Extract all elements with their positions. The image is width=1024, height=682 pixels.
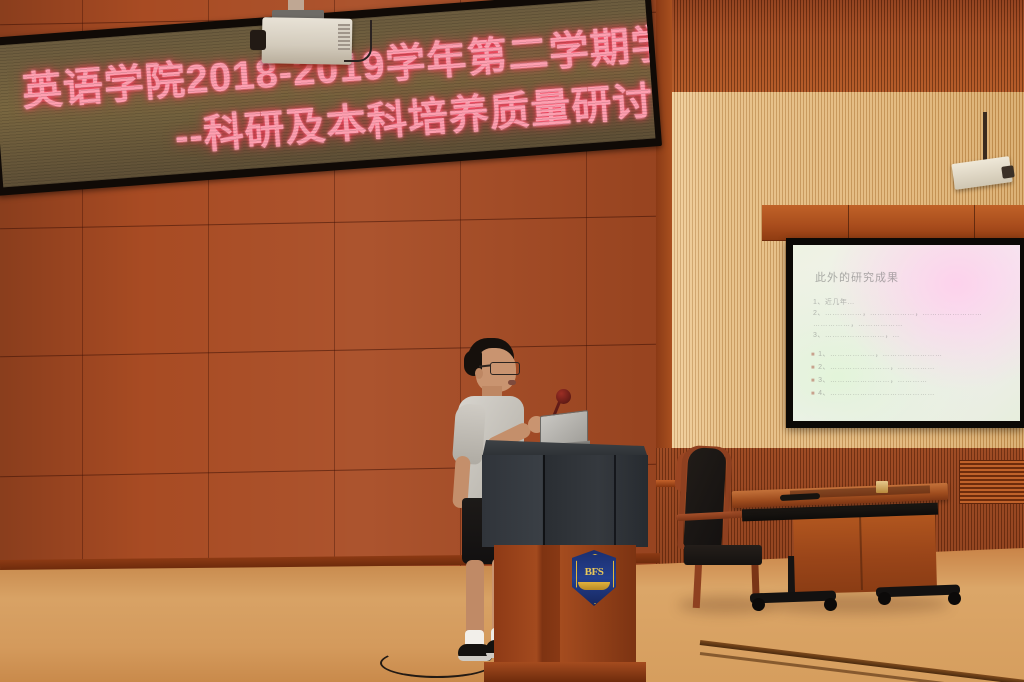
podium-edge: [614, 455, 616, 547]
projection-screen-frame: 此外的研究成果 1、近几年… 2、……………，………………，…………………… ……: [786, 238, 1024, 428]
slide-title: 此外的研究成果: [815, 269, 899, 285]
wall-seam: [0, 216, 656, 230]
projector-right-lens-icon: [1001, 165, 1015, 179]
mouth: [508, 380, 516, 385]
caster-wheel-icon: [948, 592, 961, 605]
wall-pillar: [656, 0, 672, 448]
projection-screen: 此外的研究成果 1、近几年… 2、……………，………………，…………………… ……: [793, 245, 1020, 421]
slide-bullet: 4、……………………………………: [811, 388, 935, 398]
microphone-icon: [556, 389, 571, 404]
table-apron: [793, 512, 937, 594]
projector-lens-icon: [250, 30, 266, 50]
slide-bullet: 1、………………，……………………: [811, 349, 943, 359]
slide-line: 2、……………，………………，……………………: [813, 308, 982, 318]
sleeve: [452, 403, 486, 465]
chair-seat: [684, 545, 762, 565]
screen-valance: [762, 205, 1024, 241]
chair-backrest: [683, 447, 726, 549]
slide-line: 3、……………………，…: [813, 330, 900, 340]
slide-line: 1、近几年…: [813, 297, 855, 307]
slide-line: ……………，………………: [813, 319, 903, 329]
podium-front: [482, 455, 648, 547]
slide-bullet: 3、……………………，…………: [811, 375, 928, 385]
podium-foot: [484, 662, 646, 682]
lecture-hall-photo: 英语学院2018-2019学年第二学期学术研讨会 --科研及本科培养质量研讨 此…: [0, 0, 1024, 682]
podium-edge: [543, 455, 545, 547]
slide-bullet: 2、……………………，……………: [811, 362, 935, 372]
air-vent-icon: [959, 460, 1024, 504]
caster-wheel-icon: [824, 598, 837, 611]
glasses-icon: [490, 362, 520, 375]
wall-seam: [0, 344, 656, 358]
projector-cable: [344, 20, 372, 62]
caster-wheel-icon: [752, 598, 765, 611]
floor-cable: [380, 648, 494, 678]
emblem-text: BFS: [572, 566, 616, 578]
table-small-item: [876, 481, 888, 493]
projector-pole: [983, 112, 987, 164]
caster-wheel-icon: [878, 592, 891, 605]
ear: [475, 368, 483, 379]
left-leg: [466, 560, 484, 638]
dark-slat-panel: [656, 0, 1024, 92]
